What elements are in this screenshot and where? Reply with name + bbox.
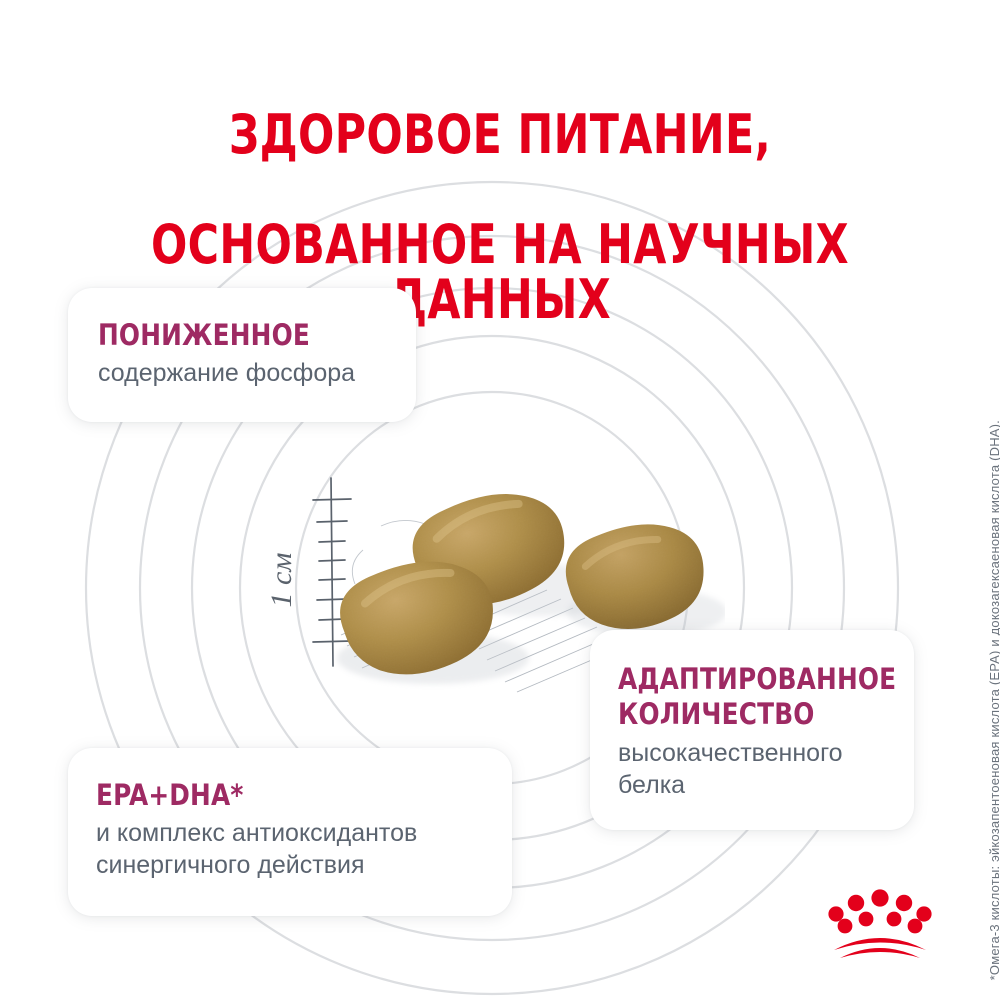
card-phosphorus-subtitle: содержание фосфора bbox=[98, 357, 416, 389]
royal-canin-crown-logo bbox=[828, 888, 932, 960]
card-epa-dha[interactable]: EPA+DHA* и комплекс антиоксидантов синер… bbox=[68, 748, 512, 916]
card-phosphorus[interactable]: ПОНИЖЕННОЕ содержание фосфора bbox=[68, 288, 416, 422]
card-protein[interactable]: АДАПТИРОВАННОЕ КОЛИЧЕСТВО высокачественн… bbox=[590, 630, 914, 830]
card-epa-dha-subtitle: и комплекс антиоксидантов синергичного д… bbox=[96, 817, 512, 881]
svg-text:1 см: 1 см bbox=[265, 553, 298, 608]
page-title-line-1: ЗДОРОВОЕ ПИТАНИЕ, bbox=[60, 107, 940, 162]
poster-canvas: ЗДОРОВОЕ ПИТАНИЕ, ОСНОВАННОЕ НА НАУЧНЫХ … bbox=[0, 0, 1000, 1000]
footnote-omega3: *Омега-3 кислоты: эйкозапентоеновая кисл… bbox=[987, 420, 1000, 980]
card-protein-subtitle: высокачественного белка bbox=[618, 737, 914, 801]
card-protein-title: АДАПТИРОВАННОЕ КОЛИЧЕСТВО bbox=[618, 662, 899, 733]
card-phosphorus-title: ПОНИЖЕННОЕ bbox=[98, 318, 400, 353]
card-epa-dha-title: EPA+DHA* bbox=[96, 778, 491, 813]
